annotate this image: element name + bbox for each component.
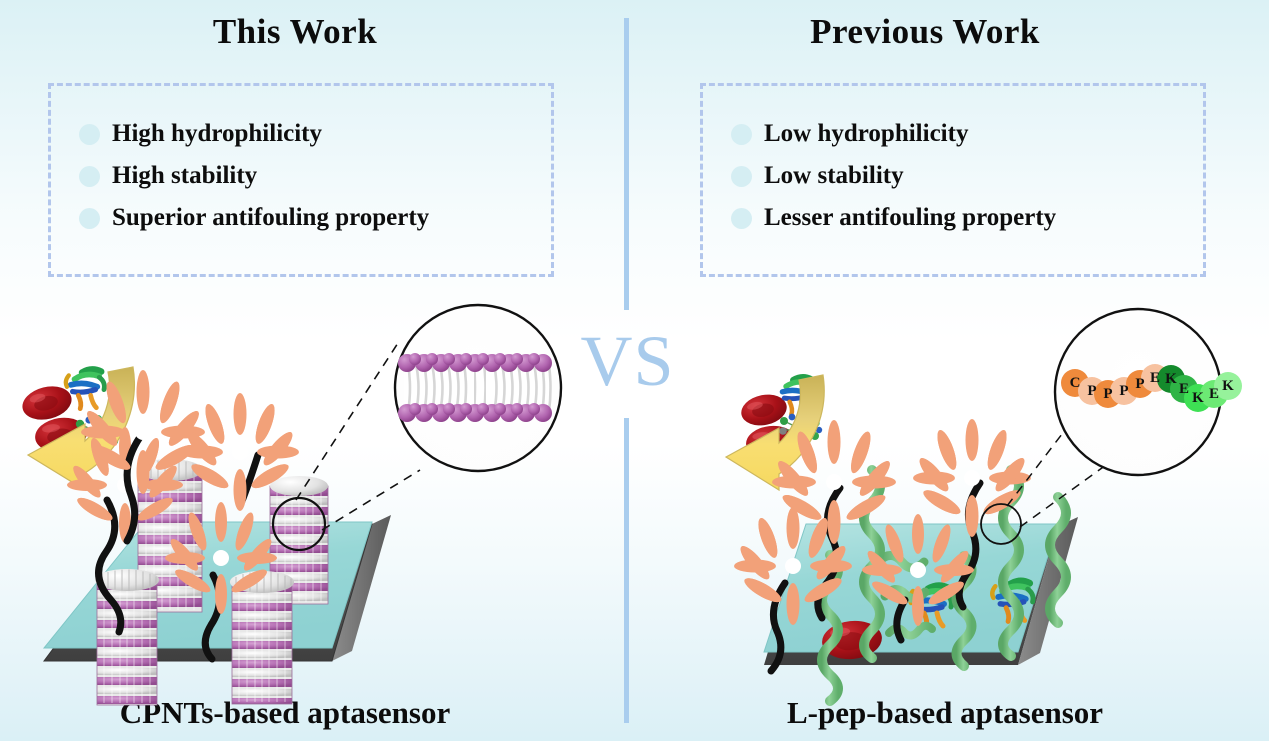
sensor-substrate-left bbox=[44, 515, 391, 661]
cyclic-peptide-nanotube bbox=[230, 571, 294, 704]
bullet-dot-icon bbox=[731, 124, 752, 145]
repulsion-arrow-icon bbox=[28, 367, 134, 490]
repelled-foulants bbox=[19, 367, 135, 490]
list-item: High stability bbox=[79, 158, 429, 194]
right-magnifier bbox=[981, 400, 1120, 544]
list-item: Low hydrophilicity bbox=[731, 116, 1056, 152]
feature-label: High hydrophilicity bbox=[112, 120, 322, 148]
repelled-foulants-right bbox=[726, 375, 824, 490]
red-blood-cell bbox=[744, 423, 797, 460]
panel-divider-bottom bbox=[624, 418, 629, 723]
residue-label: P bbox=[1087, 383, 1096, 399]
left-panel-caption: CPNTs-based aptasensor bbox=[55, 695, 515, 731]
cyclic-peptide-nanotube bbox=[138, 459, 202, 612]
versus-label: VS bbox=[565, 325, 690, 397]
left-magnifier bbox=[273, 343, 420, 550]
residue-label: E bbox=[1179, 381, 1189, 397]
protein-ribbon bbox=[910, 586, 952, 627]
right-feature-box: Low hydrophilicity Low stability Lesser … bbox=[700, 83, 1206, 277]
bullet-dot-icon bbox=[731, 166, 752, 187]
cyclic-peptide-nanotube bbox=[95, 569, 159, 705]
adsorbed-foulants bbox=[820, 555, 1033, 662]
repulsion-arrow-icon bbox=[726, 375, 824, 490]
red-blood-cell bbox=[820, 618, 884, 662]
bullet-dot-icon bbox=[731, 208, 752, 229]
residue-label: K bbox=[1165, 371, 1177, 387]
feature-label: High stability bbox=[112, 162, 257, 190]
right-scene: C P P P P E K E K E K bbox=[726, 309, 1242, 701]
cpnt-inset bbox=[395, 305, 561, 471]
red-blood-cell bbox=[33, 415, 89, 456]
list-item: Superior antifouling property bbox=[79, 200, 429, 236]
protein-ribbon bbox=[992, 581, 1033, 621]
aptamer-icon bbox=[165, 502, 277, 614]
list-item: Lesser antifouling property bbox=[731, 200, 1056, 236]
left-panel-title: This Work bbox=[100, 12, 490, 52]
nanotube-bead-row-top bbox=[398, 353, 552, 372]
left-feature-box: High hydrophilicity High stability Super… bbox=[48, 83, 554, 277]
nanotube-bead-row-bottom bbox=[398, 403, 552, 422]
residue-label: E bbox=[1150, 370, 1160, 386]
sensor-substrate-right bbox=[764, 517, 1078, 665]
feature-label: Low stability bbox=[764, 162, 904, 190]
residue-label: C bbox=[1070, 375, 1081, 391]
protein-cluster bbox=[75, 415, 122, 450]
residue-label: K bbox=[1192, 390, 1204, 406]
right-panel-title: Previous Work bbox=[730, 12, 1120, 52]
figure-canvas: VS This Work Previous Work High hydrophi… bbox=[0, 0, 1269, 741]
cpnt-array bbox=[95, 459, 328, 705]
aptamer-icon bbox=[913, 419, 1031, 537]
protein-ribbon bbox=[782, 377, 814, 414]
red-blood-cell bbox=[19, 381, 75, 424]
protein-ribbon bbox=[66, 369, 105, 408]
aptamer-icon bbox=[734, 507, 852, 625]
aptamer-icon bbox=[81, 370, 205, 494]
red-blood-cell bbox=[738, 391, 789, 430]
residue-label: P bbox=[1103, 386, 1112, 402]
aptamer-icon bbox=[862, 514, 974, 626]
left-feature-list: High hydrophilicity High stability Super… bbox=[79, 116, 429, 242]
bullet-dot-icon bbox=[79, 208, 100, 229]
peptide-residue-chain: C P P P P E K E K E K bbox=[1061, 364, 1242, 412]
feature-label: Low hydrophilicity bbox=[764, 120, 968, 148]
left-scene bbox=[19, 305, 561, 705]
panel-divider-top bbox=[624, 18, 629, 310]
aptamer-icon bbox=[181, 393, 299, 511]
feature-label: Lesser antifouling property bbox=[764, 204, 1056, 232]
aptamer-group-left bbox=[67, 370, 299, 659]
bullet-dot-icon bbox=[79, 124, 100, 145]
aptamer-icon bbox=[67, 427, 183, 543]
cyclic-peptide-nanotube bbox=[270, 476, 328, 604]
residue-label: K bbox=[1222, 378, 1234, 394]
peptide-sequence-inset: C P P P P E K E K E K bbox=[1055, 309, 1242, 475]
protein-cluster bbox=[779, 412, 822, 445]
bullet-dot-icon bbox=[79, 166, 100, 187]
residue-label: P bbox=[1119, 383, 1128, 399]
aptamer-group-right bbox=[734, 419, 1031, 671]
feature-label: Superior antifouling property bbox=[112, 204, 429, 232]
residue-label: E bbox=[1209, 386, 1219, 402]
aptamer-icon bbox=[772, 420, 896, 544]
right-feature-list: Low hydrophilicity Low stability Lesser … bbox=[731, 116, 1056, 242]
list-item: High hydrophilicity bbox=[79, 116, 429, 152]
linear-peptide-array bbox=[822, 470, 1066, 701]
list-item: Low stability bbox=[731, 158, 1056, 194]
right-panel-caption: L-pep-based aptasensor bbox=[715, 695, 1175, 731]
residue-label: P bbox=[1135, 376, 1144, 392]
